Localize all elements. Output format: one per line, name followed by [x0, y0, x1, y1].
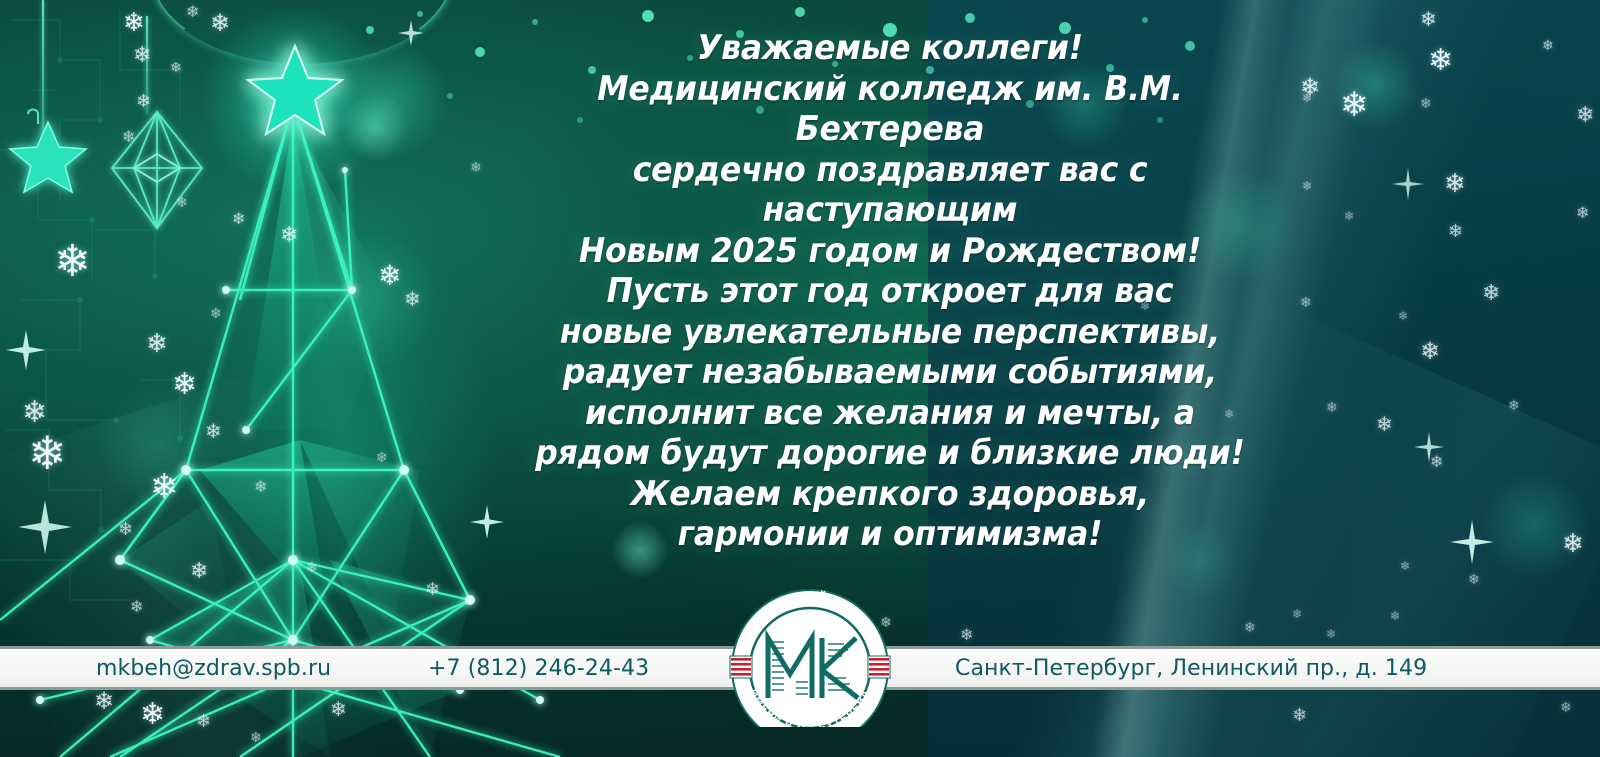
college-logo: МЕДИЦИНСКИЙ КОЛЛЕДЖ ИМЕНИ В.М.БЕХТЕРЕВА	[722, 582, 898, 727]
contact-email[interactable]: mkbeh@zdrav.spb.ru	[96, 656, 331, 681]
greeting-message: Уважаемые коллеги! Медицинский колледж и…	[514, 28, 1266, 555]
tree-topper-star-icon	[243, 38, 347, 142]
greeting-card: ❄ ❄ ❄ ❄ ❄ ❄ ❄ ❄ ❄ ❄ ❄ ❄ ❄ ❄ ❄ ❄ ❄ ❄ ❄ ❄ …	[0, 0, 1600, 757]
contact-address: Санкт-Петербург, Ленинский пр., д. 149	[955, 656, 1427, 681]
contact-phone[interactable]: +7 (812) 246-24-43	[428, 656, 649, 681]
